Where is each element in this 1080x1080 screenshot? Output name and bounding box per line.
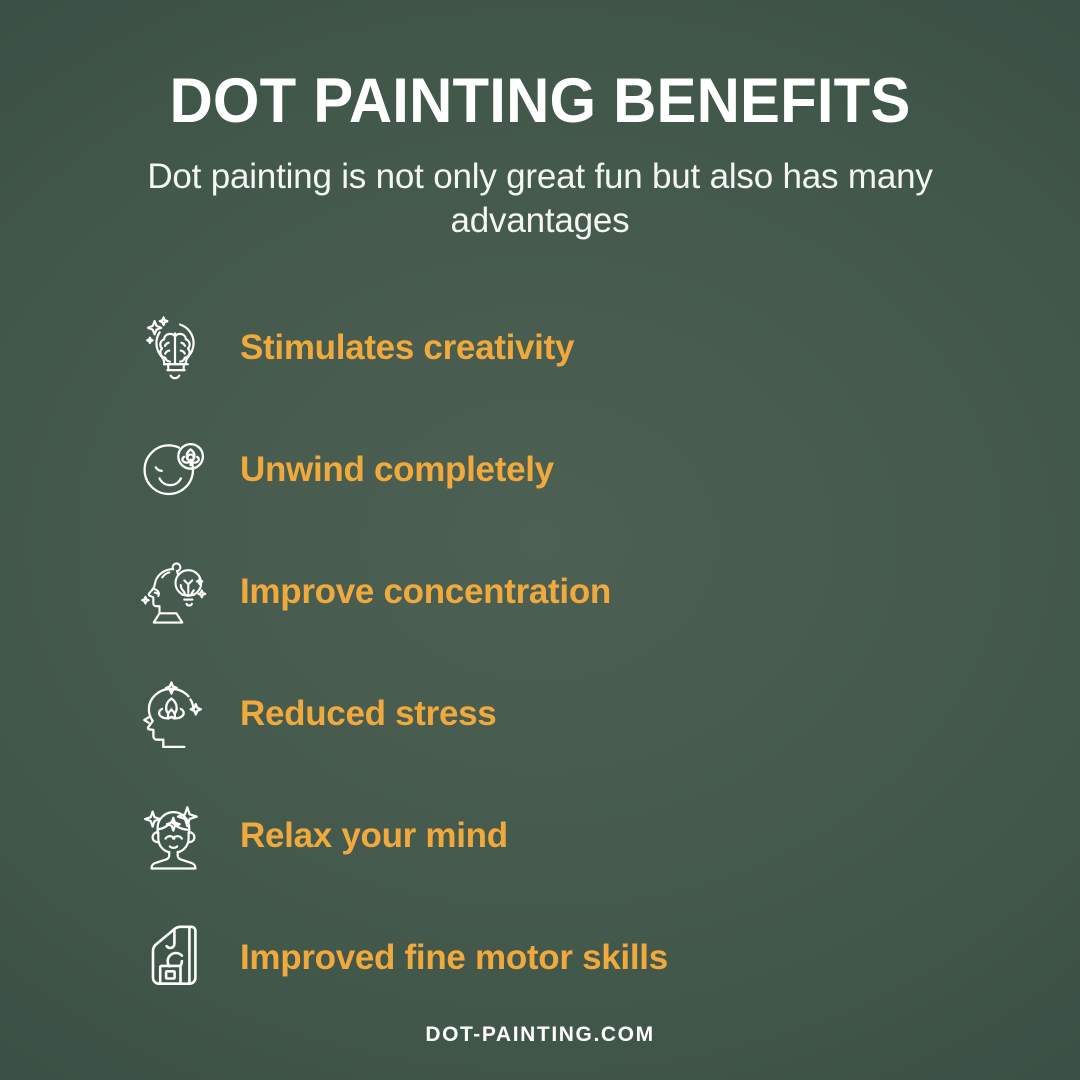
smiling-face-flower-icon: [138, 434, 210, 506]
list-item: Stimulates creativity: [138, 287, 1080, 409]
footer-website[interactable]: DOT-PAINTING.COM: [0, 1023, 1080, 1047]
benefit-label: Improve concentration: [240, 572, 611, 612]
list-item: Improved fine motor skills: [138, 897, 1080, 1019]
benefit-label: Stimulates creativity: [240, 328, 574, 368]
lightbulb-brain-icon: [138, 312, 210, 384]
benefit-label: Improved fine motor skills: [240, 938, 668, 978]
list-item: Relax your mind: [138, 775, 1080, 897]
benefits-list: Stimulates creativity Unwind complet: [0, 287, 1080, 1019]
list-item: Reduced stress: [138, 653, 1080, 775]
benefit-label: Reduced stress: [240, 694, 496, 734]
list-item: Improve concentration: [138, 531, 1080, 653]
page-subtitle: Dot painting is not only great fun but a…: [145, 155, 935, 243]
head-lotus-icon: [138, 678, 210, 750]
hand-pinch-icon: [138, 922, 210, 994]
list-item: Unwind completely: [138, 409, 1080, 531]
calm-face-stars-icon: [138, 800, 210, 872]
benefit-label: Relax your mind: [240, 816, 508, 856]
page-title: DOT PAINTING BENEFITS: [169, 70, 910, 133]
infographic-poster: DOT PAINTING BENEFITS Dot painting is no…: [0, 0, 1080, 1080]
benefit-label: Unwind completely: [240, 450, 554, 490]
head-lightbulb-icon: [138, 556, 210, 628]
